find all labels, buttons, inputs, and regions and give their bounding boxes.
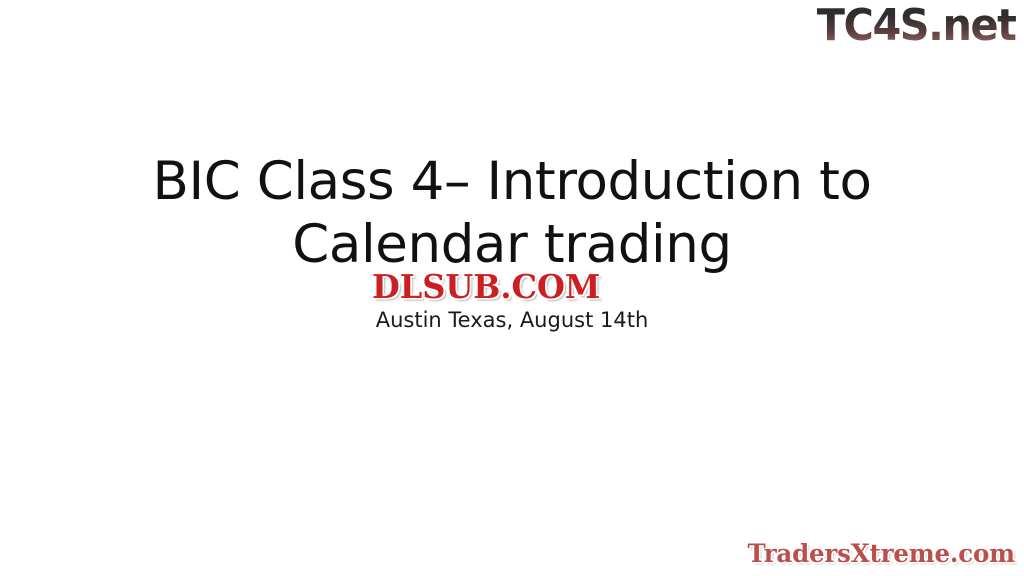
dlsub-com-watermark: DLSUB.COM [372, 268, 600, 306]
title-block: BIC Class 4– Introduction to Calendar tr… [112, 150, 912, 276]
tradersxtreme-com-watermark: TradersXtreme.com [748, 539, 1015, 568]
subtitle-block: Austin Texas, August 14th [112, 307, 912, 333]
tc4s-net-logo: TC4S.net [817, 2, 1016, 50]
page-subtitle: Austin Texas, August 14th [112, 307, 912, 333]
page-title: BIC Class 4– Introduction to Calendar tr… [112, 150, 912, 276]
presentation-slide: TC4S.net BIC Class 4– Introduction to Ca… [0, 0, 1024, 576]
